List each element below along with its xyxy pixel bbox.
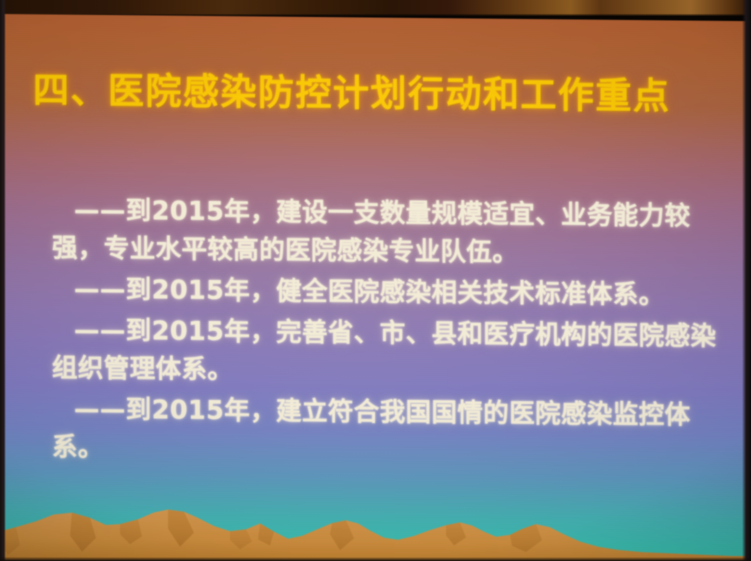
photo-left-edge — [0, 0, 6, 561]
projected-slide: 四、医院感染防控计划行动和工作重点 ——到2015年，建设一支数量规模适宜、业务… — [4, 14, 747, 561]
bullet-item-3: ——到2015年，完善省、市、县和医疗机构的医院感染组织管理体系。 — [52, 311, 720, 393]
bullet-item-4: ——到2015年，建立符合我国国情的医院感染监控体系。 — [52, 390, 720, 472]
dunes-decoration — [4, 491, 747, 561]
bullet-item-1: ——到2015年，建设一支数量规模适宜、业务能力较强，专业水平较高的医院感染专业… — [52, 191, 720, 273]
slide-title: 四、医院感染防控计划行动和工作重点 — [33, 70, 723, 118]
bullet-item-2: ——到2015年，健全医院感染相关技术标准体系。 — [52, 270, 720, 314]
photo-right-edge — [742, 0, 751, 561]
projection-photo: 四、医院感染防控计划行动和工作重点 ——到2015年，建设一支数量规模适宜、业务… — [0, 0, 751, 561]
photo-bottom-edge — [0, 557, 751, 561]
slide-body: ——到2015年，建设一支数量规模适宜、业务能力较强，专业水平较高的医院感染专业… — [52, 191, 720, 475]
